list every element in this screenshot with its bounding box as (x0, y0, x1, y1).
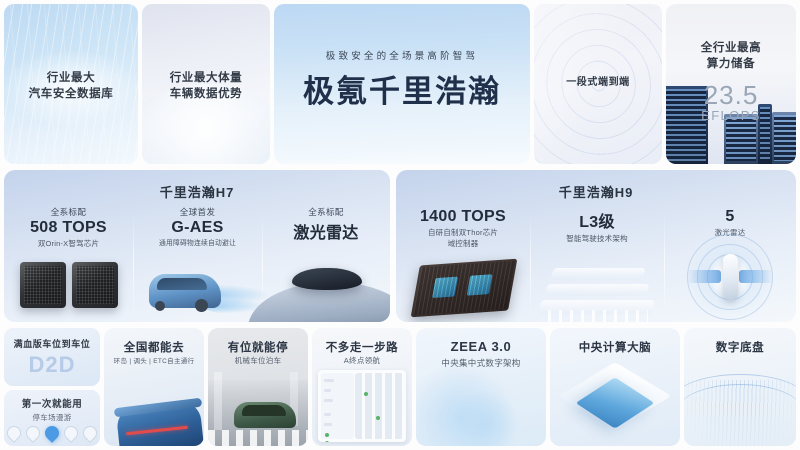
h7-gaes-note: 通用障碍物连续自动避让 (133, 239, 262, 249)
roam-label: 第一次就能用 (4, 398, 100, 412)
h7-tops-sub: 全系标配 (4, 206, 133, 218)
d2d-label: 满血版车位到车位 (4, 338, 100, 351)
h7-cell-tops[interactable]: 全系标配 508 TOPS 双Orin-X智驾芯片 (4, 206, 133, 322)
compute-line2: 算力储备 (666, 56, 796, 73)
h7-cell-lidar[interactable]: 全系标配 激光雷达 (262, 206, 390, 322)
zeea-sub: 中央集中式数字架构 (416, 357, 546, 369)
hero-subtitle: 极致安全的全场景高阶智驾 (274, 48, 530, 62)
card-mechanical-parking[interactable]: 有位就能停 机械车位泊车 (208, 328, 308, 446)
card-compute-power[interactable]: 全行业最高 算力储备 23.5 EFLOPS (666, 4, 796, 164)
walk-title: 不多走一步路 (312, 339, 412, 355)
h9-title: 千里浩瀚H9 (396, 182, 796, 201)
lidar-icon (292, 268, 362, 290)
nav-list-panel (321, 373, 354, 439)
parking-grid (355, 373, 403, 439)
h9-tops-note: 自研自制双Thor芯片 域控制器 (396, 228, 530, 250)
parking-title: 有位就能停 (208, 339, 308, 355)
h9-lidar-value: 5 (664, 208, 796, 226)
slide-root: 行业最大 汽车安全数据库 行业最大体量 车辆数据优势 极致安全的全场景高阶智驾 … (0, 0, 800, 450)
safety-database-line1: 行业最大 (4, 70, 138, 87)
card-parking-roam[interactable]: 第一次就能用 停车场漫游 (4, 390, 100, 446)
sensor-icon (687, 234, 773, 320)
h7-title: 千里浩瀚H7 (4, 182, 390, 201)
car-window-decor (157, 278, 207, 290)
compute-value: 23.5 (666, 80, 796, 111)
hero-title: 极氪千里浩瀚 (274, 66, 530, 111)
h7-gaes-value: G-AES (133, 219, 262, 237)
location-pin-active-icon (42, 423, 62, 443)
h9-l3-value: L3级 (530, 208, 664, 232)
chip-icon (20, 262, 66, 308)
card-fleet-data[interactable]: 行业最大体量 车辆数据优势 (142, 4, 270, 164)
chassis-title: 数字底盘 (684, 339, 796, 355)
h9-cell-lidar-count[interactable]: 5 激光雷达 (664, 206, 796, 322)
rail-legs-decor (548, 310, 648, 322)
compute-line1: 全行业最高 (666, 40, 796, 57)
zeea-title: ZEEA 3.0 (416, 339, 546, 354)
brain-title: 中央计算大脑 (550, 339, 680, 355)
chip-icon (72, 262, 118, 308)
nationwide-sub: 环岛 | 调头 | ETC自主通行 (104, 355, 204, 365)
card-d2d[interactable]: 满血版车位到车位 D2D (4, 328, 100, 386)
card-nationwide[interactable]: 全国都能去 环岛 | 调头 | ETC自主通行 (104, 328, 204, 446)
end-to-end-label: 一段式端到端 (534, 76, 662, 91)
card-end-to-end[interactable]: 一段式端到端 (534, 4, 662, 164)
h9-cell-l3[interactable]: L3级 智能驾驶技术架构 (530, 206, 664, 322)
compute-unit: EFLOPS (666, 108, 796, 123)
location-pin-icon (61, 423, 81, 443)
h7-gaes-sub: 全球首发 (133, 206, 262, 218)
panel-h9[interactable]: 千里浩瀚H9 1400 TOPS 自研自制双Thor芯片 域控制器 L3级 智能… (396, 170, 796, 322)
h9-tops-value: 1400 TOPS (396, 208, 530, 226)
card-digital-chassis[interactable]: 数字底盘 (684, 328, 796, 446)
rail-icon (550, 268, 646, 280)
car-wheel-icon (195, 299, 208, 312)
fleet-data-line1: 行业最大体量 (142, 70, 270, 87)
nationwide-title: 全国都能去 (104, 339, 204, 355)
card-endpoint-nav[interactable]: 不多走一步路 A终点领航 (312, 328, 412, 446)
particle-wave-icon (684, 380, 796, 446)
card-zeea[interactable]: ZEEA 3.0 中央集中式数字架构 (416, 328, 546, 446)
nav-map-ui[interactable] (318, 370, 406, 442)
h7-cell-gaes[interactable]: 全球首发 G-AES 通用障碍物连续自动避让 (133, 206, 262, 322)
rail-icon (545, 284, 650, 296)
car-wheel-icon (155, 301, 165, 311)
fleet-data-line2: 车辆数据优势 (142, 86, 270, 103)
roam-sub: 停车场漫游 (4, 412, 100, 423)
location-pin-icon (80, 423, 100, 443)
pin-row (4, 426, 100, 440)
h7-tops-note: 双Orin-X智驾芯片 (4, 239, 133, 250)
d2d-value: D2D (4, 352, 100, 378)
h9-l3-note: 智能驾驶技术架构 (530, 234, 664, 245)
h9-cell-tops[interactable]: 1400 TOPS 自研自制双Thor芯片 域控制器 (396, 206, 530, 322)
card-hero-headline[interactable]: 极致安全的全场景高阶智驾 极氪千里浩瀚 (274, 4, 530, 164)
h7-lidar-sub: 全系标配 (262, 206, 390, 218)
crosswalk-decor (208, 430, 308, 446)
panel-h7[interactable]: 千里浩瀚H7 全系标配 508 TOPS 双Orin-X智驾芯片 全球首发 G-… (4, 170, 390, 322)
h7-tops-value: 508 TOPS (4, 219, 133, 237)
card-safety-database[interactable]: 行业最大 汽车安全数据库 (4, 4, 138, 164)
h7-lidar-value: 激光雷达 (262, 219, 390, 243)
car-window-decor (242, 405, 286, 416)
location-pin-icon (23, 423, 43, 443)
location-pin-icon (4, 423, 24, 443)
parking-sub: 机械车位泊车 (208, 355, 308, 366)
garage-pillar-decor (214, 372, 222, 430)
safety-database-line2: 汽车安全数据库 (4, 86, 138, 103)
pcb-icon (411, 259, 518, 318)
card-central-brain[interactable]: 中央计算大脑 (550, 328, 680, 446)
route-marker-icon (364, 392, 368, 396)
walk-sub: A终点领航 (312, 355, 412, 366)
